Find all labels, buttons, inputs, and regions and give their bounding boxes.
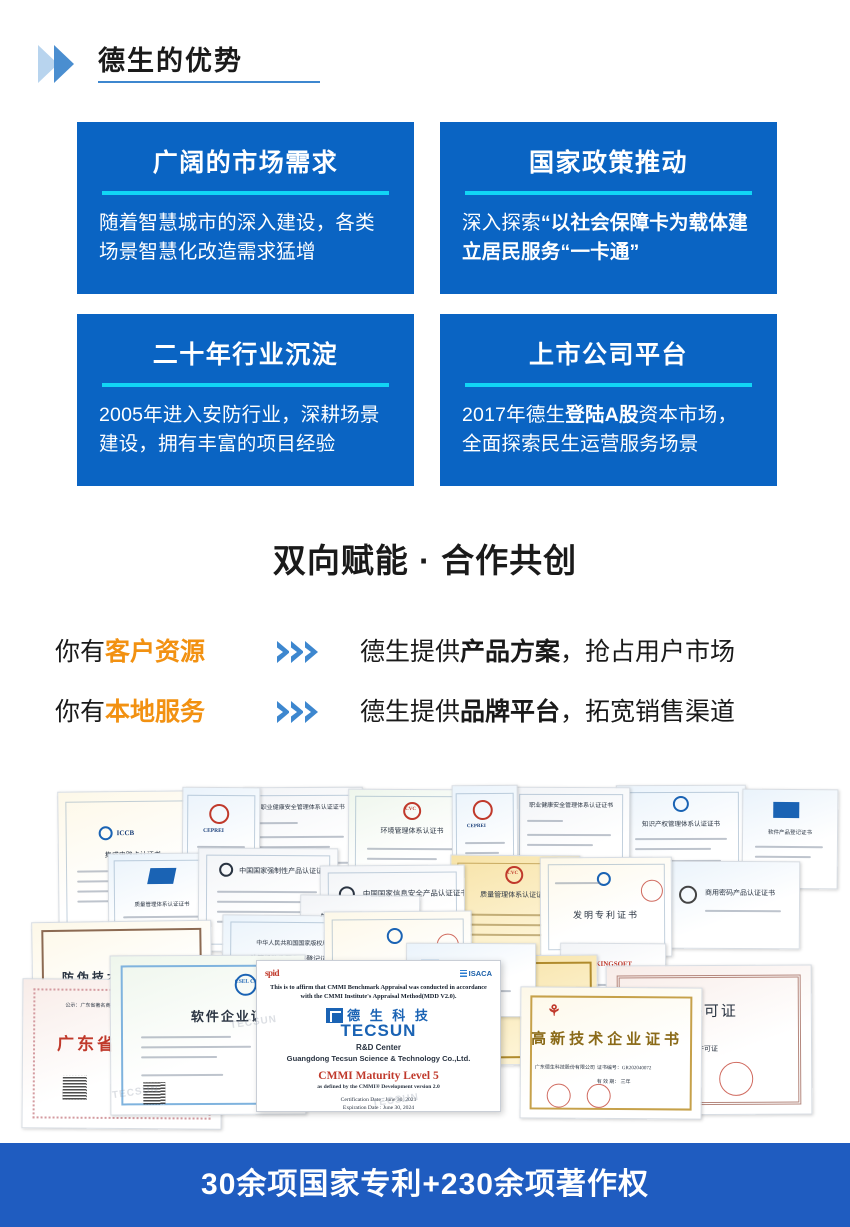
cmmi-unit: R&D Center bbox=[265, 1042, 492, 1053]
cert-brand-tag: CEPREI bbox=[203, 828, 224, 834]
triple-chevron-right-icon bbox=[235, 641, 360, 663]
certificate-collage: ICCB 集成电路卡认证书 CEPREI 职业健康安全管理体系认证证书 bbox=[0, 765, 850, 1143]
advantage-card-3-body-text: 2005年进入安防行业，深耕场景建设，拥有丰富的项目经验 bbox=[99, 404, 380, 455]
cmmi-defined-by: as defined by the CMMI® Development vers… bbox=[265, 1083, 492, 1091]
synergy-row-1-left-highlight: 客户资源 bbox=[105, 638, 205, 666]
footer-banner: 30余项国家专利+230余项著作权 bbox=[0, 1143, 850, 1227]
synergy-row-2-left-prefix: 你有 bbox=[55, 698, 105, 726]
synergy-row-1-right: 德生提供产品方案，抢占用户市场 bbox=[360, 635, 735, 669]
patent-emblem-icon bbox=[387, 928, 403, 944]
advantage-card-3-body: 2005年进入安防行业，深耕场景建设，拥有丰富的项目经验 bbox=[99, 401, 392, 459]
synergy-list: 你有客户资源 德生提供产品方案，抢占用户市场 你有本地服务 德生提供品牌平台，拓… bbox=[0, 627, 850, 747]
synergy-row-1-left: 你有客户资源 bbox=[0, 635, 235, 669]
ccc-logo-icon bbox=[219, 863, 233, 877]
cert-title: 发明专利证书 bbox=[541, 908, 671, 922]
advantage-card-4-body: 2017年德生登陆A股资本市场，全面探索民生运营服务场景 bbox=[462, 401, 755, 459]
tecsun-logo-icon bbox=[326, 1008, 343, 1023]
spid-logo-icon: spid bbox=[265, 968, 279, 978]
patent-emblem-icon bbox=[597, 872, 611, 886]
chevron-3-shape bbox=[305, 641, 318, 663]
osccca-logo-icon bbox=[679, 886, 697, 904]
triple-chevron-right-icon-2 bbox=[235, 701, 360, 723]
advantage-card-4-body-pre: 2017年德生 bbox=[462, 404, 565, 426]
synergy-row-1-right-suffix: ，抢占用户市场 bbox=[560, 638, 735, 666]
advantage-card-2-title: 国家政策推动 bbox=[529, 148, 688, 178]
advantage-card-3: 二十年行业沉淀 2005年进入安防行业，深耕场景建设，拥有丰富的项目经验 bbox=[77, 314, 414, 486]
advantage-card-1-divider bbox=[102, 191, 389, 195]
advantage-card-4-body-bold: 登陆A股 bbox=[565, 404, 638, 426]
cert-brand-tag: ICCB bbox=[117, 829, 135, 837]
cert-title: 中国国家强制性产品认证证书 bbox=[239, 866, 330, 876]
advantage-card-2-body: 深入探索“以社会保障卡为载体建立居民服务“一卡通” bbox=[462, 209, 755, 267]
synergy-row-2-right-suffix: ，拓宽销售渠道 bbox=[560, 698, 735, 726]
synergy-row-1-right-prefix: 德生提供 bbox=[360, 638, 460, 666]
advantage-card-1-body: 随着智慧城市的深入建设，各类场景智慧化改造需求猛增 bbox=[99, 209, 392, 267]
cert-brand-tag: CVC bbox=[405, 807, 416, 812]
ceprei-logo-icon bbox=[209, 804, 229, 824]
cert-title: 软件产品登记证书 bbox=[743, 828, 837, 837]
cmmi-level: CMMI Maturity Level 5 bbox=[265, 1069, 492, 1083]
cert-title: 高新技术企业证书 bbox=[531, 1027, 683, 1049]
advantage-page: 德生的优势 广阔的市场需求 随着智慧城市的深入建设，各类场景智慧化改造需求猛增 … bbox=[0, 0, 850, 1227]
advantage-card-1: 广阔的市场需求 随着智慧城市的深入建设，各类场景智慧化改造需求猛增 bbox=[77, 122, 414, 294]
ceprei-logo-icon bbox=[473, 800, 493, 820]
advantage-card-grid: 广阔的市场需求 随着智慧城市的深入建设，各类场景智慧化改造需求猛增 国家政策推动… bbox=[77, 122, 777, 486]
cert-title: 商用密码产品认证证书 bbox=[705, 888, 775, 898]
iccb-logo-icon bbox=[99, 826, 113, 840]
cmmi-company: Guangdong Tecsun Science & Technology Co… bbox=[265, 1053, 492, 1064]
synergy-row-2-left: 你有本地服务 bbox=[0, 695, 235, 729]
page-title: 德生的优势 bbox=[98, 44, 320, 78]
advantage-card-4: 上市公司平台 2017年德生登陆A股资本市场，全面探索民生运营服务场景 bbox=[440, 314, 777, 486]
advantage-card-1-title: 广阔的市场需求 bbox=[153, 148, 339, 178]
advantage-card-4-divider bbox=[465, 383, 752, 387]
isaca-mark-shape bbox=[460, 970, 467, 977]
synergy-row-2-left-highlight: 本地服务 bbox=[105, 698, 205, 726]
cert-title: 职业健康安全管理体系认证证书 bbox=[513, 800, 629, 809]
advantage-card-4-title: 上市公司平台 bbox=[529, 340, 688, 370]
chevron-dark-shape bbox=[54, 45, 74, 83]
cert-title: 职业健康安全管理体系认证证书 bbox=[244, 802, 362, 812]
cmmi-affirmation-text: This is to affirm that CMMI Benchmark Ap… bbox=[265, 983, 492, 1001]
cmmi-exp-date: Expiration Date : June 30, 2024 bbox=[265, 1104, 492, 1112]
chevron-3-shape bbox=[305, 701, 318, 723]
synergy-row-2: 你有本地服务 德生提供品牌平台，拓宽销售渠道 bbox=[0, 687, 850, 737]
synergy-title: 双向赋能 · 合作共创 bbox=[0, 540, 850, 582]
synergy-row-2-right-bold: 品牌平台 bbox=[460, 698, 560, 726]
synergy-row-2-right: 德生提供品牌平台，拓宽销售渠道 bbox=[360, 695, 735, 729]
cert-note: 广东德生科技股份有限公司 bbox=[535, 1063, 595, 1070]
footer-banner-text: 30余项国家专利+230余项著作权 bbox=[201, 1165, 649, 1205]
cert-brand-tag: CEPREI bbox=[467, 824, 486, 829]
cmmi-brand-row: spid ISACA bbox=[265, 967, 492, 979]
tecsun-brand-en: TECSUN bbox=[265, 1021, 492, 1040]
cmmi-certificate: spid ISACA This is to affirm that CMMI B… bbox=[256, 960, 501, 1112]
cmmi-cert-date: Certification Date : June 30, 2021 bbox=[265, 1096, 492, 1104]
synergy-row-1-left-prefix: 你有 bbox=[55, 638, 105, 666]
synergy-row-1: 你有客户资源 德生提供产品方案，抢占用户市场 bbox=[0, 627, 850, 677]
gx-logo-icon: ⚘ bbox=[547, 1002, 561, 1021]
cert-emblem-icon bbox=[673, 796, 689, 812]
advantage-card-3-title: 二十年行业沉淀 bbox=[153, 340, 339, 370]
certificate-thumb: ⚘ 高新技术企业证书 广东德生科技股份有限公司 证书编号：GR202040072… bbox=[520, 986, 703, 1119]
advantage-card-2-divider bbox=[465, 191, 752, 195]
synergy-row-1-right-bold: 产品方案 bbox=[460, 638, 560, 666]
double-chevron-right-icon bbox=[38, 45, 74, 83]
cert-title: 知识产权管理体系认证证书 bbox=[617, 818, 745, 828]
synergy-row-2-right-prefix: 德生提供 bbox=[360, 698, 460, 726]
certificate-thumb: 商用密码产品认证证书 bbox=[662, 861, 800, 950]
cert-note: 证书编号：GR202040072 bbox=[597, 1064, 652, 1071]
advantage-card-1-body-text: 随着智慧城市的深入建设，各类场景智慧化改造需求猛增 bbox=[99, 212, 375, 263]
isaca-label: ISACA bbox=[469, 969, 492, 978]
advantage-card-3-divider bbox=[102, 383, 389, 387]
section-header: 德生的优势 bbox=[0, 34, 850, 94]
cert-brand-tag: CVC bbox=[507, 871, 518, 876]
title-underline bbox=[98, 81, 320, 83]
advantage-card-2-body-normal: 深入探索 bbox=[462, 212, 541, 234]
cert-note: 公示：广东省著名商标 bbox=[65, 1002, 115, 1009]
isaca-logo-icon: ISACA bbox=[460, 969, 492, 978]
advantage-card-2: 国家政策推动 深入探索“以社会保障卡为载体建立居民服务“一卡通” bbox=[440, 122, 777, 294]
section-header-text: 德生的优势 bbox=[98, 44, 320, 85]
